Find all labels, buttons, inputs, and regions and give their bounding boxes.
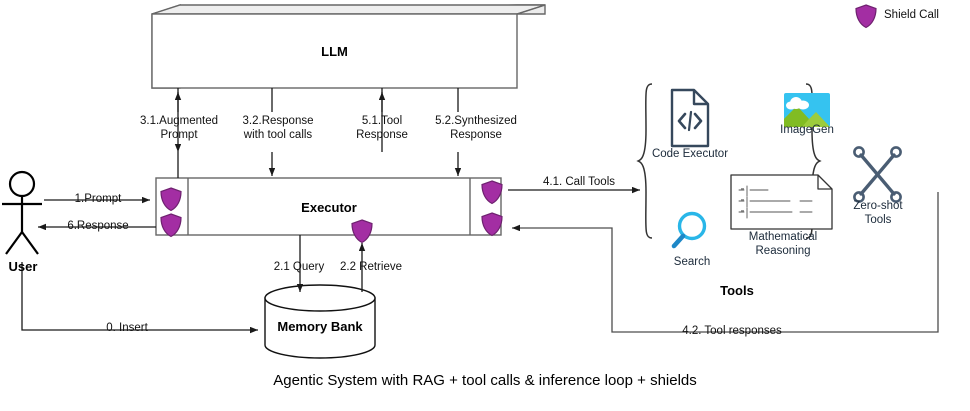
edge-label-synthesized-response: 5.2.Synthesized Response	[425, 115, 527, 142]
crossed-wrenches-icon	[854, 147, 900, 201]
edge-label-tool-response: 5.1.Tool Response	[340, 115, 424, 142]
shield-legend-label: Shield Call	[884, 9, 939, 21]
edge-label-query: 2.1 Query	[264, 261, 334, 275]
edge-label-call-tools: 4.1. Call Tools	[534, 176, 624, 190]
tool-label-zero-shot-tools: Zero-shot Tools	[838, 200, 918, 227]
diagram-caption: Agentic System with RAG + tool calls & i…	[0, 372, 970, 389]
edge-label-response: 6.Response	[52, 220, 144, 234]
edge-label-prompt: 1.Prompt	[58, 193, 138, 207]
edge-label-insert: 0. Insert	[92, 322, 162, 336]
tools-group-label: Tools	[692, 283, 782, 298]
edge-label-tool-responses: 4.2. Tool responses	[672, 325, 792, 339]
magnifier-icon	[674, 214, 705, 247]
llm-label: LLM	[152, 44, 517, 59]
tool-label-code-executor: Code Executor	[645, 148, 735, 162]
memory-bank-label: Memory Bank	[265, 319, 375, 334]
tool-label-search: Search	[661, 256, 723, 270]
edge-label-response-with-tool-calls: 3.2.Response with tool calls	[228, 115, 328, 142]
shield-executor-retrieve	[352, 220, 372, 243]
edge-label-retrieve: 2.2 Retrieve	[334, 261, 408, 275]
diagram-graphics	[0, 0, 970, 411]
image-icon	[784, 93, 830, 127]
shield-legend-icon	[856, 5, 876, 28]
diagram-canvas: LLM Executor Memory Bank User Tools 3.1.…	[0, 0, 970, 411]
tool-label-mathematical-reasoning: Mathematical Reasoning	[735, 231, 831, 258]
tool-label-imagegen: ImageGen	[770, 124, 844, 138]
executor-label: Executor	[188, 200, 470, 215]
code-document-icon	[672, 90, 708, 146]
user-label: User	[0, 259, 46, 274]
edge-label-augmented-prompt: 3.1.Augmented Prompt	[134, 115, 224, 142]
formula-document-icon	[731, 175, 832, 229]
user-node	[2, 172, 42, 254]
